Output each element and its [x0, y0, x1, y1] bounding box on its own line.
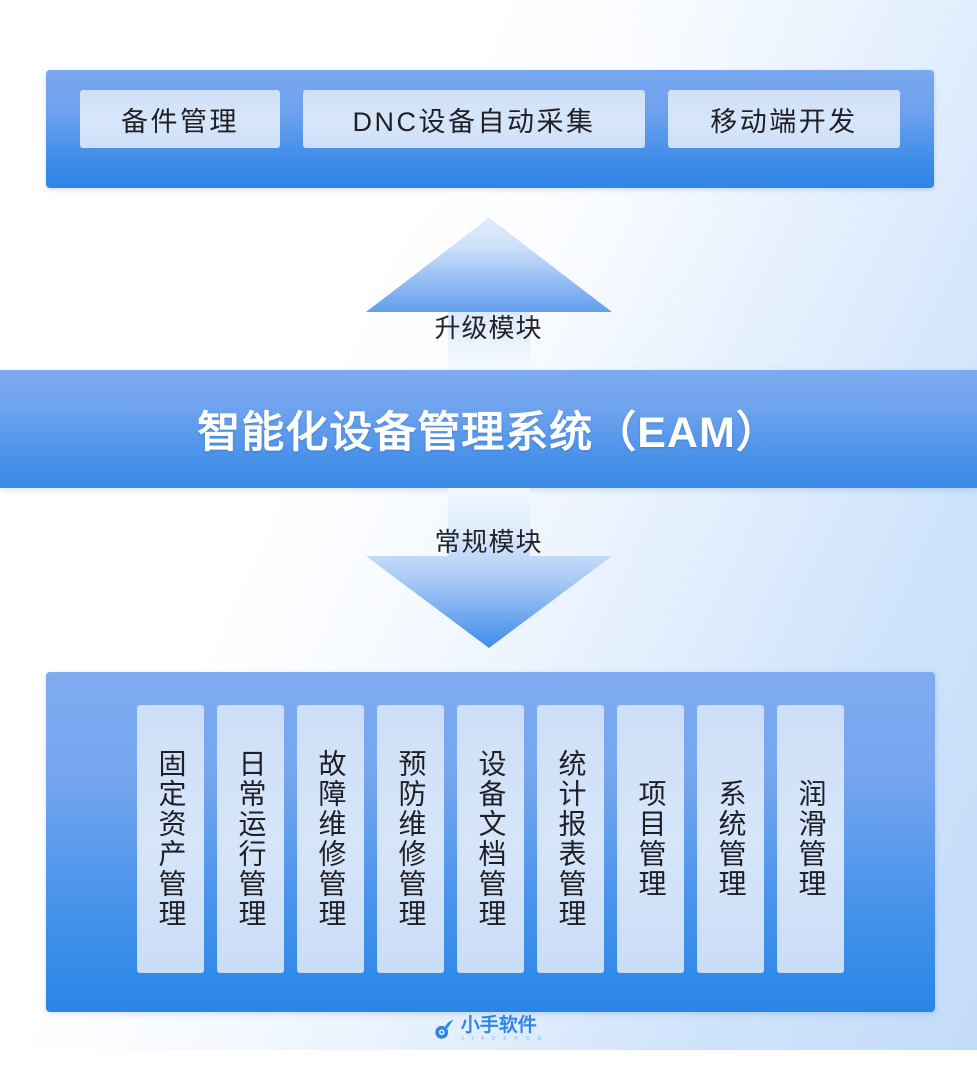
module-chip-daily-operation[interactable]: 日常运行管理 — [217, 705, 284, 973]
module-chip-lubrication-management[interactable]: 润滑管理 — [777, 705, 844, 973]
diagram-canvas: 备件管理 DNC设备自动采集 移动端开发 — [0, 0, 977, 1080]
module-chip-label: 设备文档管理 — [475, 749, 507, 929]
upgrade-chip-label: 备件管理 — [121, 100, 239, 139]
arrow-down-icon — [364, 488, 614, 650]
arrow-up-icon — [364, 212, 614, 372]
module-chip-label: 项目管理 — [635, 779, 667, 899]
module-chip-fault-repair[interactable]: 故障维修管理 — [297, 705, 364, 973]
module-chip-label: 故障维修管理 — [315, 749, 347, 929]
module-chip-fixed-assets[interactable]: 固定资产管理 — [137, 705, 204, 973]
module-chip-label: 润滑管理 — [795, 779, 827, 899]
module-chip-label: 固定资产管理 — [155, 749, 187, 929]
upgrade-arrow-container — [0, 212, 977, 372]
core-system-title: 智能化设备管理系统（EAM） — [197, 398, 780, 460]
module-chip-label: 预防维修管理 — [395, 749, 427, 929]
module-chip-preventive-maintenance[interactable]: 预防维修管理 — [377, 705, 444, 973]
brand-name: 小手软件 — [461, 1016, 537, 1035]
brand-footer: 小手软件 X I A O S H O U — [0, 1016, 977, 1043]
upgrade-chip-spare-parts[interactable]: 备件管理 — [80, 90, 280, 148]
upgrade-chip-mobile-dev[interactable]: 移动端开发 — [668, 90, 900, 148]
brand-hand-icon — [433, 1019, 455, 1041]
upgrade-arrow-label: 升级模块 — [0, 308, 977, 345]
module-chip-label: 日常运行管理 — [235, 749, 267, 929]
upgrade-modules-banner: 备件管理 DNC设备自动采集 移动端开发 — [46, 70, 934, 188]
core-system-bar: 智能化设备管理系统（EAM） — [0, 370, 977, 488]
upgrade-chip-label: 移动端开发 — [710, 100, 858, 139]
standard-modules-panel: 固定资产管理 日常运行管理 故障维修管理 预防维修管理 设备文档管理 统计报表管… — [46, 672, 935, 1012]
brand-text-block: 小手软件 X I A O S H O U — [461, 1016, 545, 1043]
module-chip-label: 统计报表管理 — [555, 749, 587, 929]
brand-subtitle: X I A O S H O U — [461, 1035, 545, 1043]
standard-arrow-label: 常规模块 — [0, 522, 977, 559]
module-chip-project-management[interactable]: 项目管理 — [617, 705, 684, 973]
module-chip-system-management[interactable]: 系统管理 — [697, 705, 764, 973]
upgrade-chip-label: DNC设备自动采集 — [353, 100, 596, 139]
standard-arrow-container — [0, 488, 977, 650]
module-chip-statistics-reports[interactable]: 统计报表管理 — [537, 705, 604, 973]
module-chip-label: 系统管理 — [715, 779, 747, 899]
upgrade-chip-dnc-collection[interactable]: DNC设备自动采集 — [303, 90, 645, 148]
module-chip-equipment-documents[interactable]: 设备文档管理 — [457, 705, 524, 973]
